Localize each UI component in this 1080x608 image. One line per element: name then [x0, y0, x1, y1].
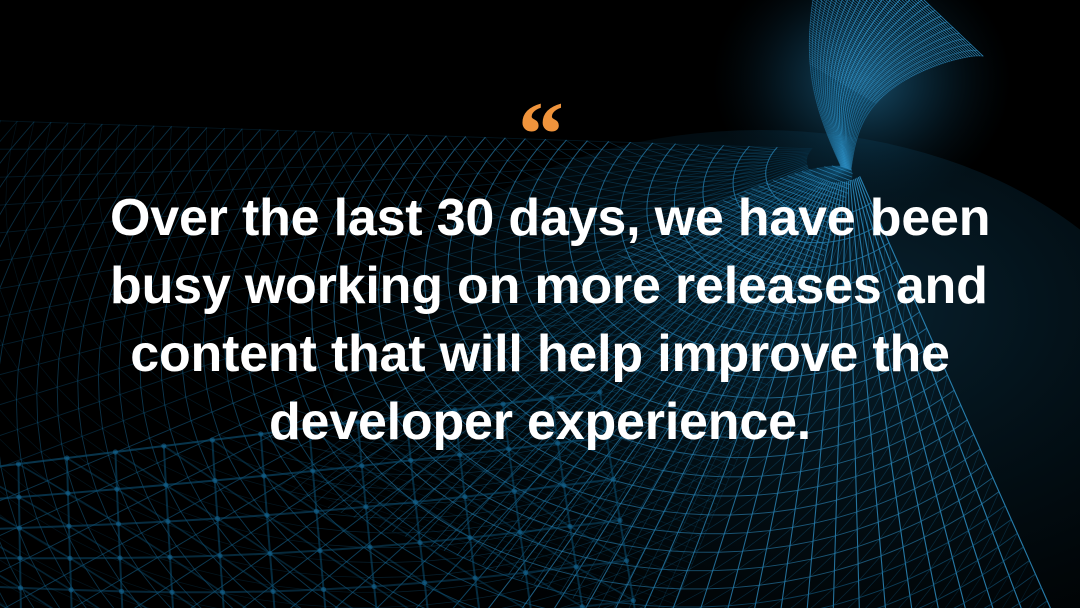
opening-quotation-mark-icon: “	[518, 88, 562, 150]
quote-card: “ Over the last 30 days, we have been bu…	[0, 0, 1080, 608]
quote-line-3: content that will help improve the	[110, 320, 970, 388]
quote-line-1: Over the last 30 days, we have been	[110, 184, 970, 252]
quote-text: Over the last 30 days, we have been busy…	[110, 184, 970, 456]
quote-block: “ Over the last 30 days, we have been bu…	[0, 0, 1080, 608]
quote-line-4: developer experience.	[110, 388, 970, 456]
quote-line-2: busy working on more releases and	[110, 252, 970, 320]
